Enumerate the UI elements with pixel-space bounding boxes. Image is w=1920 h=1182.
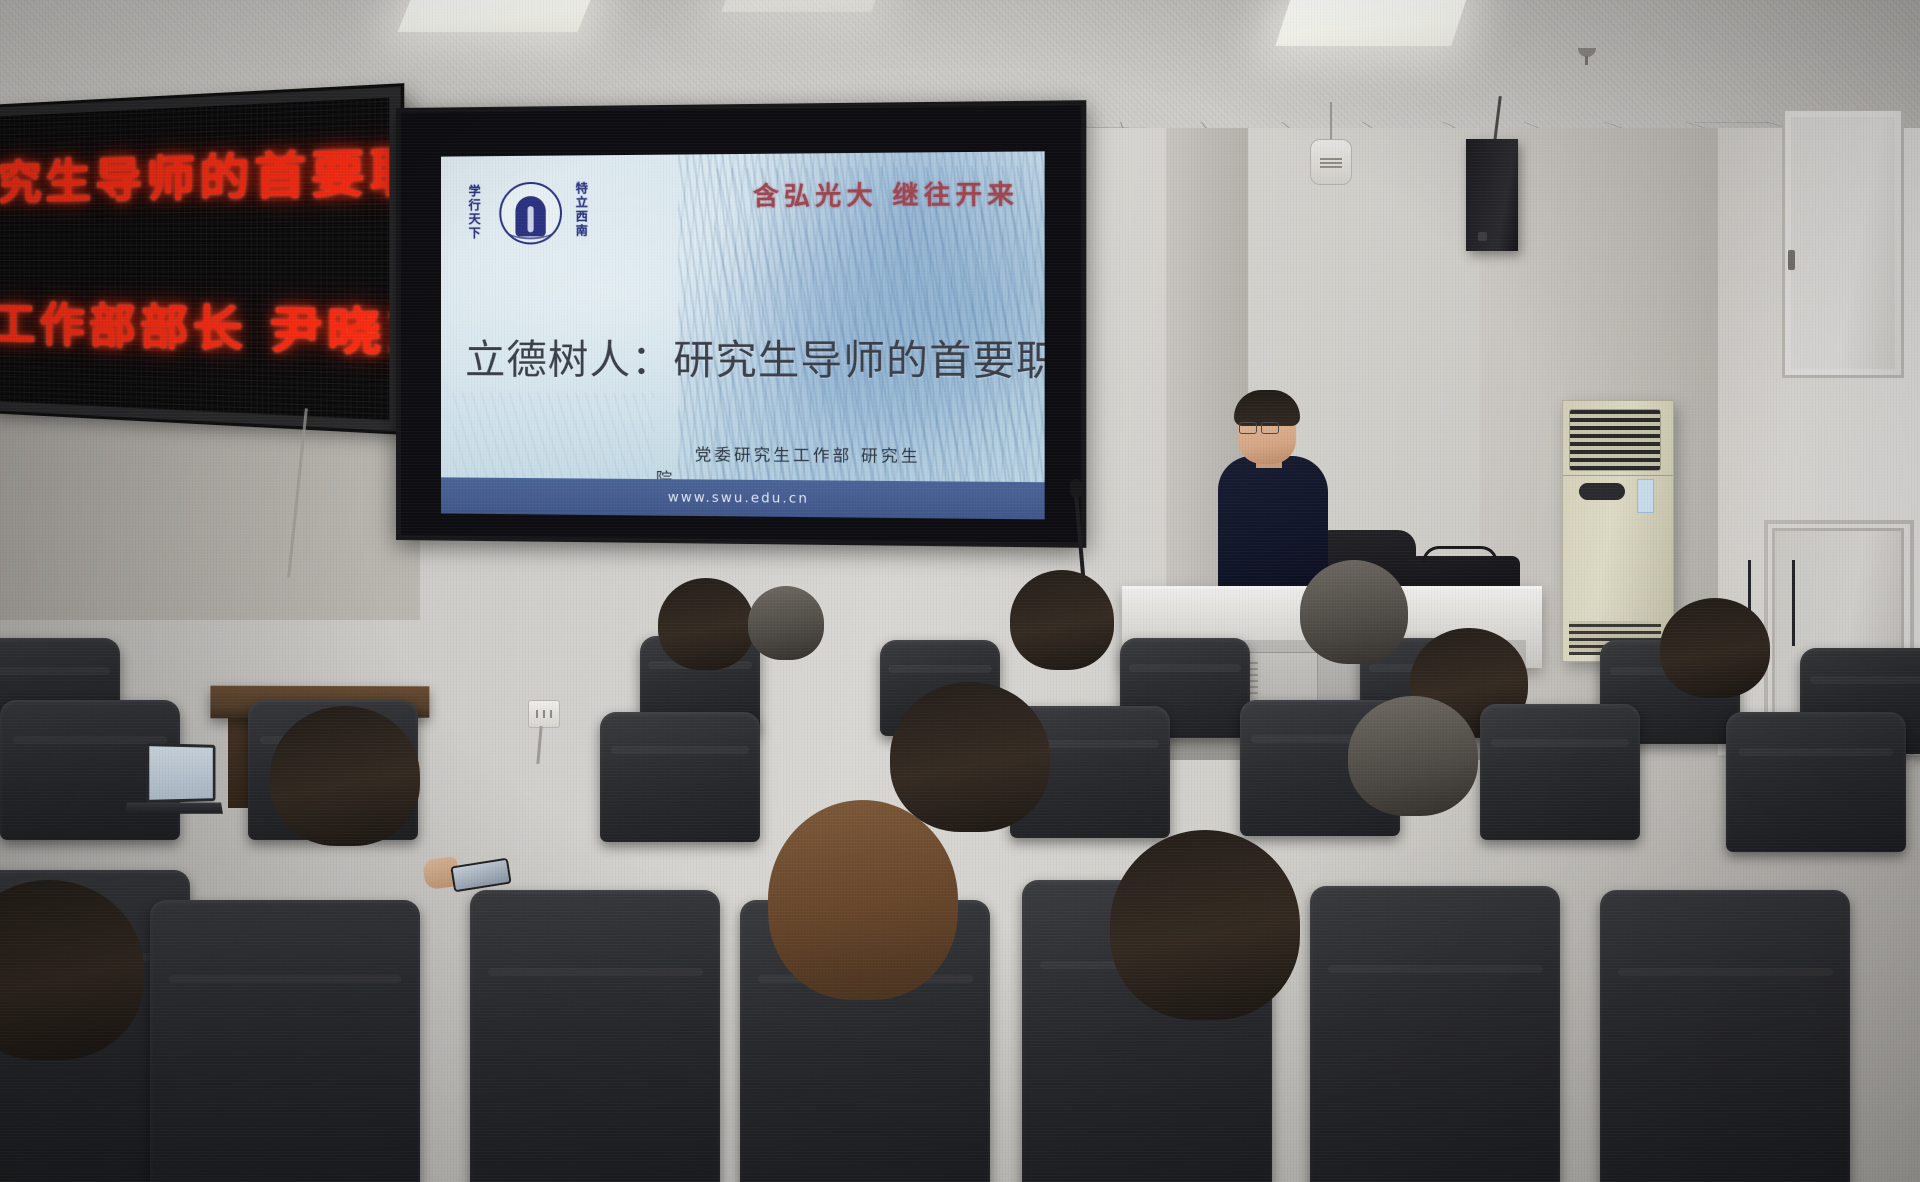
microphone-capsule-icon <box>1070 479 1082 498</box>
audience-head <box>1300 560 1408 664</box>
audience-head <box>658 578 754 670</box>
slide-footer-bar: www.swu.edu.cn <box>441 477 1045 519</box>
presenter-hair <box>1234 390 1300 426</box>
ac-sticker-label <box>1637 479 1654 513</box>
ac-brand-badge <box>1579 483 1625 500</box>
slide-motto: 含弘光大 继往开来 <box>753 174 1019 213</box>
audience-laptop-screen[interactable] <box>146 743 215 803</box>
audience-head <box>1348 696 1478 816</box>
ceiling-light-panel <box>1275 0 1469 46</box>
upper-right-door[interactable] <box>1782 108 1904 378</box>
glasses-icon <box>1239 422 1281 432</box>
seat[interactable] <box>600 712 760 842</box>
audience-head-foreground <box>1110 830 1300 1020</box>
presentation-slide: 学行天下 特立西南 含弘光大 继往开来 立德树人：研究生导师的首要职责 党委研究… <box>441 151 1045 519</box>
floor-standing-air-conditioner[interactable] <box>1562 400 1674 662</box>
logo-left-motto: 学行天下 <box>467 184 480 240</box>
ac-top-vent <box>1569 409 1661 471</box>
university-emblem-icon <box>499 182 562 245</box>
presenter-torso <box>1218 456 1328 596</box>
projection-screen: 学行天下 特立西南 含弘光大 继往开来 立德树人：研究生导师的首要职责 党委研究… <box>396 100 1086 548</box>
led-scrolling-banner: 研究生导师的首要职责 生工作部部长 尹晓东 <box>0 87 401 432</box>
audience-head <box>1010 570 1114 670</box>
wall-speaker-icon <box>1466 139 1518 251</box>
audience-head <box>1660 598 1770 698</box>
audience-head <box>890 682 1050 832</box>
audience-head <box>270 706 420 846</box>
wall-power-outlet[interactable] <box>528 700 560 728</box>
seat[interactable] <box>150 900 420 1182</box>
audience-head <box>748 586 824 660</box>
slide-footer-url: www.swu.edu.cn <box>668 490 809 507</box>
presenter-person <box>1212 394 1332 596</box>
seat[interactable] <box>1600 890 1850 1182</box>
door-handle-icon[interactable] <box>1788 250 1795 270</box>
logo-right-motto: 特立西南 <box>574 182 587 239</box>
seat[interactable] <box>1310 886 1560 1182</box>
ceiling-light-panel <box>398 0 595 32</box>
sensor-wire <box>1330 102 1332 142</box>
audience-laptop-base <box>125 802 223 813</box>
audience-head-foreground <box>768 800 958 1000</box>
ceiling-light-panel <box>721 0 880 12</box>
seat[interactable] <box>1480 704 1640 840</box>
seat[interactable] <box>1726 712 1906 852</box>
ac-seam <box>1563 475 1673 476</box>
lecture-hall-photo: 研究生导师的首要职责 生工作部部长 尹晓东 学行天下 特立西南 含弘光大 继往开… <box>0 0 1920 1182</box>
seat[interactable] <box>470 890 720 1182</box>
slide-title: 立德树人：研究生导师的首要职责 <box>465 327 1034 387</box>
wall-sensor-icon <box>1310 139 1352 185</box>
slide-organization-line-1: 党委研究生工作部 研究生 <box>695 441 921 467</box>
